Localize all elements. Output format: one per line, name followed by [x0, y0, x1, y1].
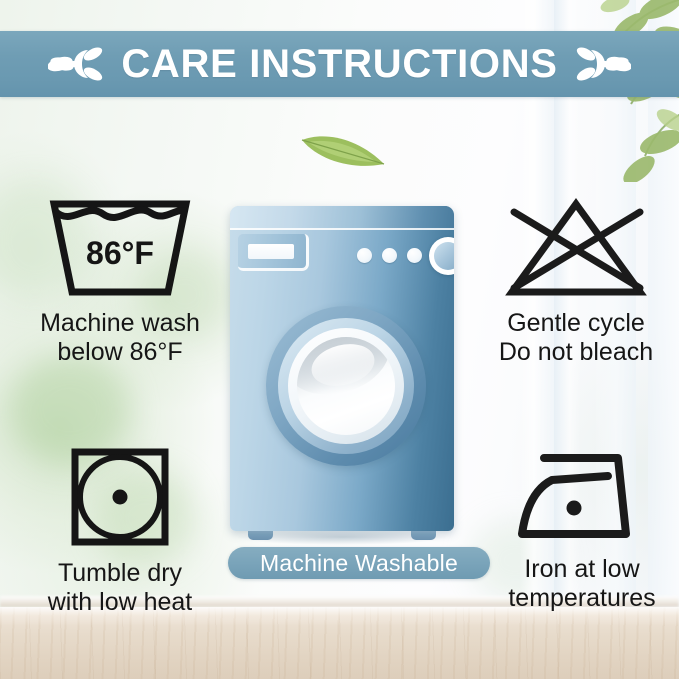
page-title: CARE INSTRUCTIONS [121, 44, 557, 84]
care-caption-tumble-dry: Tumble dry with low heat [48, 559, 193, 617]
detergent-drawer [238, 234, 309, 271]
detergent-drawer-slot [248, 244, 294, 259]
door-ring-inner [288, 328, 404, 444]
care-caption-machine-wash: Machine wash below 86°F [40, 309, 200, 367]
control-button[interactable] [357, 248, 372, 263]
tumble-dry-low-heat-icon [67, 446, 173, 550]
care-instructions-infographic: CARE INSTRUCTIONS 86°F [0, 0, 679, 679]
care-symbol-do-not-bleach: Gentle cycle Do not bleach [476, 196, 676, 367]
header-banner: CARE INSTRUCTIONS [0, 31, 679, 97]
care-caption-iron: Iron at low temperatures [508, 555, 655, 613]
door-glass [297, 337, 395, 435]
fleur-de-lis-left-icon [48, 42, 104, 86]
machine-body [230, 206, 454, 531]
wash-tub-icon: 86°F [44, 196, 196, 300]
triangle-crossed-no-bleach-icon [500, 196, 652, 300]
program-knob[interactable] [429, 237, 454, 275]
floating-leaf-icon [298, 126, 390, 172]
care-symbol-machine-wash: 86°F Machine wash below 86°F [14, 196, 226, 367]
washing-machine-illustration [230, 206, 454, 531]
wooden-table-surface [0, 607, 679, 679]
machine-door[interactable] [266, 306, 426, 466]
machine-washable-badge: Machine Washable [228, 547, 490, 579]
fleur-de-lis-right-icon [575, 42, 631, 86]
control-button[interactable] [382, 248, 397, 263]
door-ring-outer [278, 318, 414, 454]
wash-temperature-value: 86°F [86, 235, 154, 271]
care-symbol-tumble-dry: Tumble dry with low heat [14, 446, 226, 617]
iron-low-temperature-icon [512, 446, 652, 546]
care-caption-do-not-bleach: Gentle cycle Do not bleach [499, 309, 653, 367]
control-button[interactable] [407, 248, 422, 263]
care-symbol-iron: Iron at low temperatures [486, 446, 678, 613]
machine-top-panel [230, 206, 454, 230]
machine-washable-label: Machine Washable [260, 552, 458, 575]
